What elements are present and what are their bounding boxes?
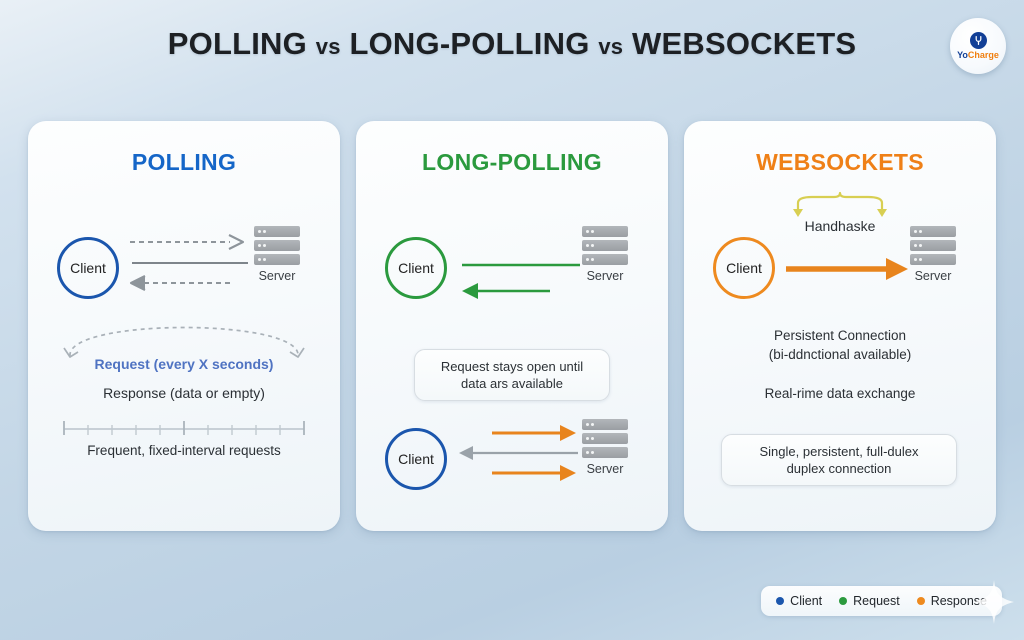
client-label: Client bbox=[726, 260, 762, 276]
server-node-polling: Server bbox=[254, 226, 300, 283]
client-node-long-polling: Client bbox=[385, 237, 447, 299]
page-title-part2: LONG-POLLING bbox=[349, 26, 589, 61]
legend-dot-client bbox=[776, 597, 784, 605]
timeline-ruler-icon bbox=[60, 416, 308, 438]
long-polling-arrows-2 bbox=[454, 421, 584, 491]
polling-request-label: Request (every X seconds) bbox=[28, 356, 340, 372]
client-label: Client bbox=[398, 260, 434, 276]
logo-wordmark: YoCharge bbox=[957, 51, 999, 60]
server-icon bbox=[910, 226, 956, 265]
server-label: Server bbox=[910, 269, 956, 283]
legend-item-request: Request bbox=[839, 594, 900, 608]
desc-line-1: Persistent Connection bbox=[774, 328, 906, 343]
long-polling-callout: Request stays open until data ars availa… bbox=[414, 349, 610, 401]
client-node-polling: Client bbox=[57, 237, 119, 299]
panel-title-long-polling: LONG-POLLING bbox=[356, 149, 668, 176]
desc-line-2: (bi-ddnctional available) bbox=[769, 347, 912, 362]
legend-dot-request bbox=[839, 597, 847, 605]
panel-long-polling[interactable]: LONG-POLLING Client Server Request stays… bbox=[356, 121, 668, 531]
page-title-part1: POLLING bbox=[168, 26, 307, 61]
server-icon bbox=[582, 419, 628, 458]
websockets-callout: Single, persistent, full-dulex duplex co… bbox=[721, 434, 957, 486]
logo-text-charge: Charge bbox=[968, 50, 999, 60]
page-title-vs2: vs bbox=[598, 34, 623, 59]
websockets-description: Persistent Connection (bi-ddnctional ava… bbox=[684, 326, 996, 364]
green-arrow-left-icon bbox=[462, 283, 550, 299]
panel-title-polling: POLLING bbox=[28, 149, 340, 176]
server-node-websockets: Server bbox=[910, 226, 956, 283]
callout-line-1: Request stays open until bbox=[441, 359, 583, 374]
server-label: Server bbox=[582, 269, 628, 283]
handshake-brace-icon bbox=[792, 191, 888, 221]
dashed-arrow-right-icon bbox=[130, 235, 243, 249]
server-label: Server bbox=[254, 269, 300, 283]
client-label: Client bbox=[398, 451, 434, 467]
page-title-vs1: vs bbox=[316, 34, 341, 59]
page-title-part3: WEBSOCKETS bbox=[632, 26, 856, 61]
orange-arrow-right-icon-bottom bbox=[492, 465, 576, 481]
server-node-long-polling-2: Server bbox=[582, 419, 628, 476]
legend-label-response: Response bbox=[931, 594, 987, 608]
panel-polling[interactable]: POLLING Client Server bbox=[28, 121, 340, 531]
legend-item-response: Response bbox=[917, 594, 987, 608]
persistent-connection-arrow-icon bbox=[782, 253, 912, 289]
callout-line-2: duplex connection bbox=[787, 461, 892, 476]
callout-line-1: Single, persistent, full-dulex bbox=[760, 444, 919, 459]
page-title: POLLING vs LONG-POLLING vs WEBSOCKETS bbox=[0, 26, 1024, 62]
panel-websockets[interactable]: WEBSOCKETS Handhaske Client Server Persi… bbox=[684, 121, 996, 531]
repeat-cycle-arc-icon bbox=[58, 306, 310, 358]
client-node-long-polling-2: Client bbox=[385, 428, 447, 490]
legend-label-request: Request bbox=[853, 594, 900, 608]
server-node-long-polling: Server bbox=[582, 226, 628, 283]
client-node-websockets: Client bbox=[713, 237, 775, 299]
polling-arrows bbox=[126, 225, 251, 295]
legend-item-client: Client bbox=[776, 594, 822, 608]
server-label: Server bbox=[582, 462, 628, 476]
polling-footer-label: Frequent, fixed-interval requests bbox=[28, 443, 340, 458]
orange-arrow-right-icon-top bbox=[492, 425, 576, 441]
gray-arrow-left-icon bbox=[459, 446, 578, 460]
server-icon bbox=[582, 226, 628, 265]
logo-text-yo: Yo bbox=[957, 50, 968, 60]
panel-title-websockets: WEBSOCKETS bbox=[684, 149, 996, 176]
client-label: Client bbox=[70, 260, 106, 276]
polling-response-label: Response (data or empty) bbox=[28, 385, 340, 401]
plug-icon bbox=[970, 32, 987, 49]
websockets-realtime-label: Real-rime data exchange bbox=[684, 386, 996, 401]
dashed-arrow-left-icon bbox=[131, 276, 230, 290]
callout-line-2: data ars available bbox=[461, 376, 563, 391]
legend-label-client: Client bbox=[790, 594, 822, 608]
legend: Client Request Response bbox=[761, 586, 1002, 616]
panels-container: POLLING Client Server bbox=[28, 121, 996, 531]
server-icon bbox=[254, 226, 300, 265]
long-polling-arrows bbox=[454, 241, 584, 301]
legend-dot-response bbox=[917, 597, 925, 605]
yocharge-logo: YoCharge bbox=[950, 18, 1006, 74]
